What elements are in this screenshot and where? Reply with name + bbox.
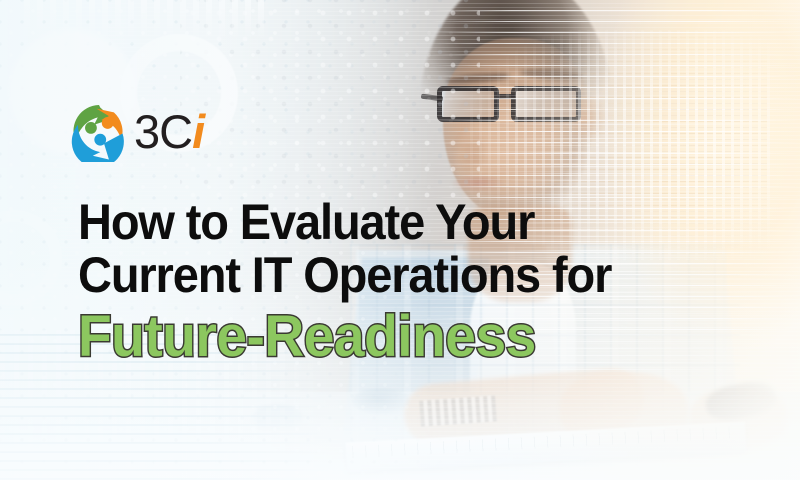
3ci-swirl-icon	[68, 100, 130, 162]
headline-line-2: Current IT Operations for	[78, 249, 689, 302]
headline-block: How to Evaluate Your Current IT Operatio…	[78, 196, 728, 368]
wordmark-accent-i: i	[192, 105, 204, 158]
headline-line-1: How to Evaluate Your	[78, 196, 689, 249]
headline-accent-line: Future-Readiness	[78, 306, 696, 368]
brand-logo[interactable]: 3Ci	[68, 100, 204, 162]
hero-banner: 3Ci How to Evaluate Your Current IT Oper…	[0, 0, 800, 480]
brand-wordmark: 3Ci	[134, 108, 204, 155]
wordmark-prefix: 3C	[134, 105, 192, 158]
